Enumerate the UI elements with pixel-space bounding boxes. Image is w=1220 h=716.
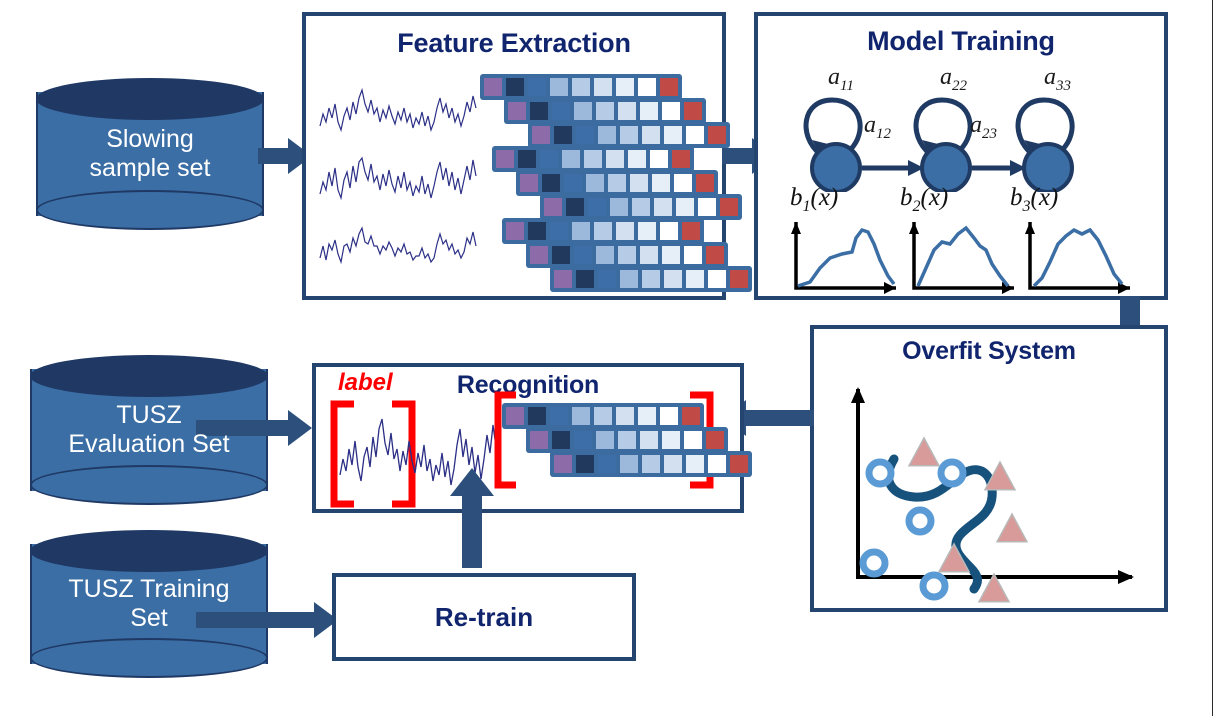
feature-matrix-cell — [639, 430, 659, 450]
scatter-circle-marker — [941, 462, 963, 484]
feature-matrix-cell — [663, 125, 683, 145]
feature-matrix-cell — [549, 77, 569, 97]
feature-matrix-cell — [637, 406, 657, 426]
feature-matrix-cell — [593, 77, 613, 97]
feature-matrix-cell — [631, 197, 651, 217]
feature-matrix-cell — [629, 173, 649, 193]
feature-matrix-cell — [729, 269, 749, 289]
feature-matrix-cell — [549, 406, 569, 426]
feature-matrix-cell — [587, 197, 607, 217]
feature-matrix-cell — [541, 173, 561, 193]
feature-matrix-row — [504, 98, 706, 124]
b-arg: (x) — [1031, 184, 1059, 211]
feature-matrix-cell — [565, 197, 585, 217]
feature-matrix-cell — [595, 101, 615, 121]
feature-matrix-cell — [529, 101, 549, 121]
feature-matrix-cell — [553, 269, 573, 289]
hmm-self-transition-label-3: a33 — [1044, 64, 1071, 95]
feature-matrix-cell — [695, 173, 715, 193]
cylinder-tusz-evaluation-set: TUSZ Evaluation Set — [30, 355, 268, 505]
page-edge-rule — [1212, 0, 1213, 716]
feature-matrix-cell — [663, 454, 683, 474]
feature-matrix-cell — [551, 245, 571, 265]
scatter-circle-marker — [909, 510, 931, 532]
feature-matrix-cell — [563, 173, 583, 193]
feature-matrix-cell — [615, 77, 635, 97]
feature-matrix-cell — [639, 245, 659, 265]
a-subscript: 12 — [876, 126, 891, 142]
feature-matrix-cell — [707, 269, 727, 289]
scatter-circle-marker — [863, 552, 885, 574]
feature-matrix-row — [550, 451, 752, 477]
feature-matrix-cell — [505, 77, 525, 97]
feature-matrix-cell — [583, 149, 603, 169]
feature-matrix-cell — [681, 406, 701, 426]
emission-pdf-plot-1 — [786, 216, 902, 298]
feature-matrix-cell — [575, 269, 595, 289]
a-symbol: a — [940, 64, 952, 90]
feature-matrix-cell — [617, 245, 637, 265]
feature-matrix-cell — [519, 173, 539, 193]
feature-matrix-cell — [661, 245, 681, 265]
feature-matrix-cell — [683, 245, 703, 265]
feature-matrix-cell — [505, 221, 525, 241]
feature-matrix-cell — [617, 430, 637, 450]
b-subscript: 3 — [1023, 198, 1031, 215]
feature-extraction-title: Feature Extraction — [306, 28, 722, 59]
feature-matrix-cell — [661, 430, 681, 450]
feature-matrix-cell — [573, 430, 593, 450]
feature-matrix-cell — [673, 173, 693, 193]
feature-matrix-cell — [507, 101, 527, 121]
a-subscript: 33 — [1056, 78, 1071, 94]
feature-matrix-cell — [553, 454, 573, 474]
feature-matrix-cell — [637, 77, 657, 97]
diagram-canvas: Slowing sample set Feature Extraction Mo… — [0, 0, 1220, 716]
feature-matrix-cell — [641, 454, 661, 474]
feature-matrix-cell — [571, 221, 591, 241]
feature-matrix-cell — [705, 245, 725, 265]
feature-matrix-cell — [517, 149, 537, 169]
hmm-transition-label-1: a12a12 — [864, 112, 891, 143]
a-subscript: 23 — [982, 126, 997, 142]
feature-matrix-cell — [615, 221, 635, 241]
feature-matrix-cell — [729, 454, 749, 474]
feature-matrix-cell — [595, 245, 615, 265]
hmm-self-transition-label-1: a11 — [828, 64, 854, 95]
feature-matrix-cell — [539, 149, 559, 169]
b-subscript: 1 — [803, 198, 811, 215]
a-symbol: a — [1044, 64, 1056, 90]
feature-matrix-cell — [573, 101, 593, 121]
feature-matrix-row — [550, 266, 752, 292]
arrow-retrain-to-recognition — [450, 468, 498, 568]
feature-matrix-cell — [617, 101, 637, 121]
a-base: a — [970, 112, 982, 138]
feature-matrix-row — [528, 122, 730, 148]
feature-matrix-cell — [651, 173, 671, 193]
feature-matrix-cell — [641, 269, 661, 289]
recognition-label-annotation: label — [338, 369, 393, 397]
retrain-title: Re-train — [336, 577, 632, 657]
feature-matrix-cell — [549, 221, 569, 241]
feature-matrix-cell — [585, 173, 605, 193]
feature-matrix-cell — [659, 221, 679, 241]
hmm-self-transition-label-2: a22 — [940, 64, 967, 95]
feature-matrix-cell — [527, 406, 547, 426]
feature-matrix-cell — [561, 149, 581, 169]
feature-matrix-cell — [685, 269, 705, 289]
model-training-title: Model Training — [758, 26, 1164, 57]
feature-matrix-cell — [551, 430, 571, 450]
feature-matrix-cell — [627, 149, 647, 169]
feature-matrix-cell — [495, 149, 515, 169]
hmm-emission-label-2: b2(x) — [900, 184, 948, 216]
scatter-triangle-marker — [997, 514, 1027, 542]
a-base: a — [864, 112, 876, 138]
feature-matrix-cell — [483, 77, 503, 97]
feature-matrix-cell — [619, 454, 639, 474]
feature-matrix-cell — [705, 430, 725, 450]
feature-matrix-cell — [653, 197, 673, 217]
feature-matrix-cell — [685, 125, 705, 145]
box-feature-extraction[interactable]: Feature Extraction — [302, 12, 726, 300]
feature-matrix-cell — [527, 77, 547, 97]
feature-matrix-cell — [595, 430, 615, 450]
hmm-transition-label-2: a23 — [970, 112, 997, 143]
feature-matrix-cell — [649, 149, 669, 169]
a-subscript: 11 — [840, 78, 854, 94]
feature-matrix-cell — [529, 245, 549, 265]
b-arg: (x) — [921, 184, 949, 211]
feature-matrix-cell — [575, 454, 595, 474]
a-symbol: a — [828, 64, 840, 90]
feature-matrix-cell — [707, 125, 727, 145]
feature-matrix-row — [502, 218, 704, 244]
feature-matrix-cell — [685, 454, 705, 474]
scatter-triangle-marker — [909, 438, 939, 466]
feature-matrix-cell — [597, 454, 617, 474]
feature-matrix-cell — [663, 269, 683, 289]
waveform-2 — [318, 144, 478, 212]
feature-matrix-row — [516, 170, 718, 196]
feature-matrix-row — [502, 403, 704, 429]
feature-matrix-cell — [697, 197, 717, 217]
feature-matrix-cell — [719, 197, 739, 217]
feature-matrix-cell — [571, 406, 591, 426]
feature-matrix-cell — [573, 245, 593, 265]
feature-matrix-row — [526, 242, 728, 268]
feature-matrix-cell — [683, 430, 703, 450]
b-arg: (x) — [811, 184, 839, 211]
feature-matrix-row — [480, 74, 682, 100]
box-overfit-system[interactable]: Overfit System — [810, 325, 1168, 612]
feature-matrix-cell — [531, 125, 551, 145]
feature-matrix-cell — [659, 77, 679, 97]
feature-matrix-cell — [527, 221, 547, 241]
overfit-scatter-plot — [842, 381, 1146, 603]
feature-matrix-cell — [605, 149, 625, 169]
a-subscript: 22 — [952, 78, 967, 94]
hmm-emission-label-1: b1(x) — [790, 184, 838, 216]
feature-matrix-cell — [675, 197, 695, 217]
cylinder-label: TUSZ Training Set — [30, 530, 268, 678]
b-subscript: 2 — [913, 198, 921, 215]
cylinder-label: TUSZ Evaluation Set — [30, 355, 268, 505]
feature-matrix-cell — [671, 149, 691, 169]
feature-matrix-cell — [637, 221, 657, 241]
box-recognition[interactable]: Recognition label — [312, 363, 744, 513]
feature-matrix-cell — [681, 221, 701, 241]
feature-matrix-cell — [597, 269, 617, 289]
waveform-3 — [318, 212, 478, 280]
feature-matrix-cell — [609, 197, 629, 217]
feature-matrix-cell — [575, 125, 595, 145]
feature-matrix-cell — [553, 125, 573, 145]
emission-pdf-plot-3 — [1020, 216, 1136, 298]
scatter-circle-marker — [923, 575, 945, 597]
waveform-1 — [318, 78, 478, 146]
emission-pdf-plot-2 — [904, 216, 1020, 298]
feature-matrix-cell — [529, 430, 549, 450]
feature-matrix-cell — [659, 406, 679, 426]
feature-matrix-row — [540, 194, 742, 220]
overfit-system-title: Overfit System — [814, 337, 1164, 366]
b-base: b — [790, 184, 803, 211]
feature-matrix-cell — [543, 197, 563, 217]
box-retrain[interactable]: Re-train — [332, 573, 636, 661]
b-base: b — [900, 184, 913, 211]
feature-matrix-cell — [593, 406, 613, 426]
feature-matrix-row — [526, 427, 728, 453]
cylinder-slowing-sample-set: Slowing sample set — [36, 78, 264, 230]
feature-matrix-cell — [597, 125, 617, 145]
feature-matrix-cell — [551, 101, 571, 121]
cylinder-label: Slowing sample set — [36, 78, 264, 230]
box-model-training[interactable]: Model Training a11 a22 — [754, 12, 1168, 300]
feature-matrix-cell — [571, 77, 591, 97]
feature-matrix-cell — [593, 221, 613, 241]
hmm-emission-label-3: b3(x) — [1010, 184, 1058, 216]
feature-matrix-cell — [683, 101, 703, 121]
feature-matrix-cell — [707, 454, 727, 474]
feature-matrix-cell — [607, 173, 627, 193]
feature-matrix-row — [492, 146, 694, 172]
feature-matrix-cell — [615, 406, 635, 426]
feature-matrix-cell — [619, 125, 639, 145]
feature-matrix-cell — [505, 406, 525, 426]
cylinder-tusz-training-set: TUSZ Training Set — [30, 530, 268, 678]
scatter-circle-marker — [869, 462, 891, 484]
feature-matrix-cell — [619, 269, 639, 289]
feature-matrix-cell — [661, 101, 681, 121]
feature-matrix-cell — [641, 125, 661, 145]
feature-matrix-cell — [639, 101, 659, 121]
b-base: b — [1010, 184, 1023, 211]
